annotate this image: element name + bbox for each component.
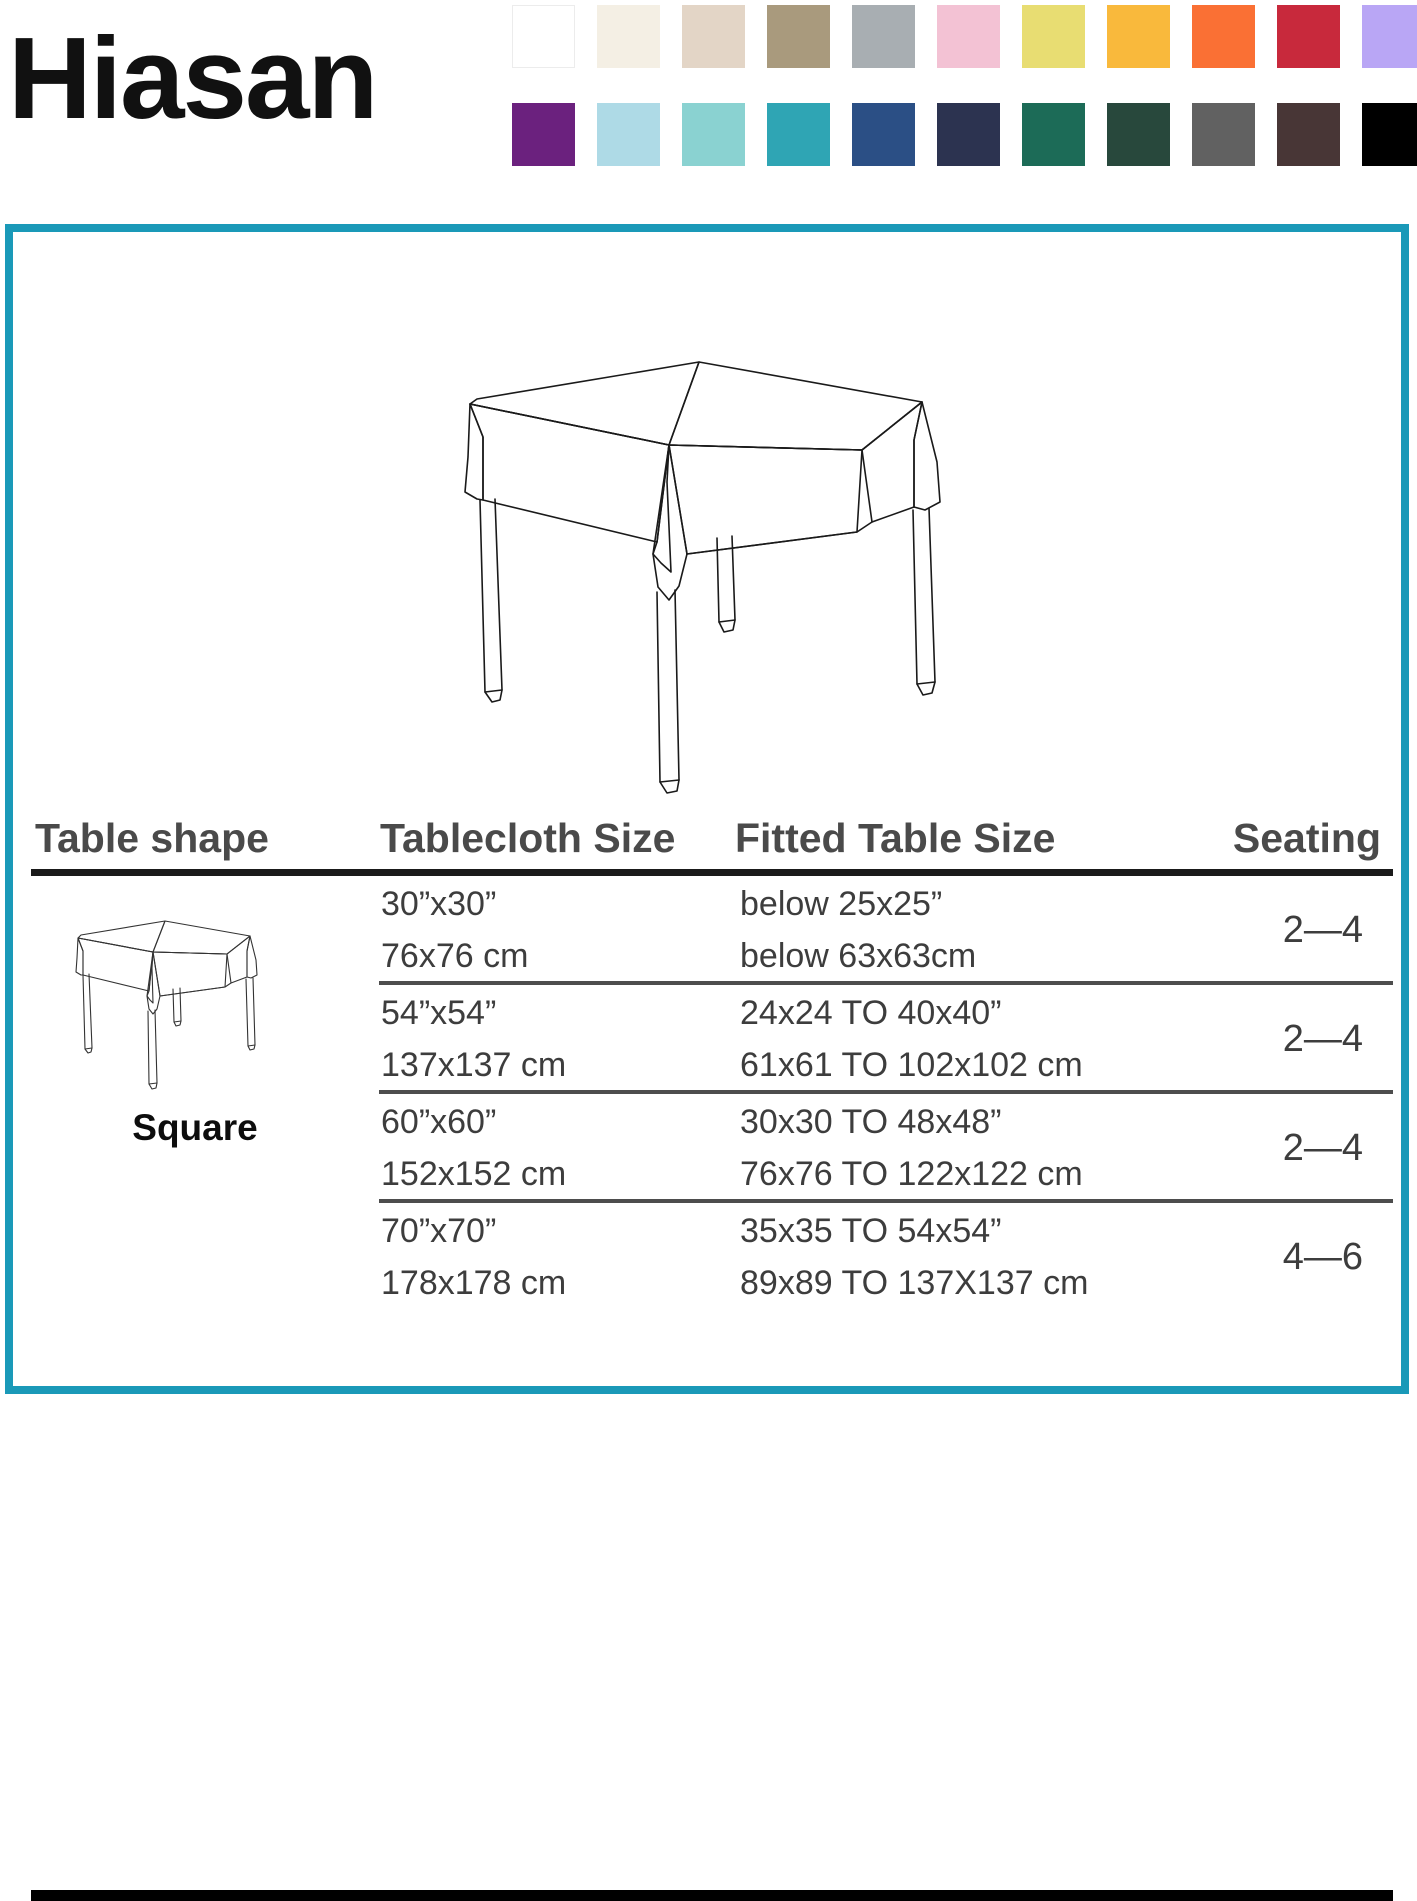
color-swatch-charcoal-grey[interactable] <box>1192 103 1255 166</box>
cell-fitted-table-size: 30x30 TO 48x48” 76x76 TO 122x122 cm <box>740 1096 1083 1200</box>
swatch-row-2 <box>512 103 1410 166</box>
brand-logo: Hiasan <box>8 8 478 148</box>
column-header-tablecloth-size: Tablecloth Size <box>380 807 675 869</box>
color-swatch-orange[interactable] <box>1192 5 1255 68</box>
cell-fitted-table-size: 24x24 TO 40x40” 61x61 TO 102x102 cm <box>740 987 1083 1091</box>
product-info-panel: Table shape Tablecloth Size Fitted Table… <box>5 224 1409 1394</box>
table-bottom-divider <box>31 1890 1393 1901</box>
cloth-size-inches: 30”x30” <box>381 878 528 930</box>
swatch-row-1 <box>512 5 1410 68</box>
fitted-size-inches: below 25x25” <box>740 878 976 930</box>
cloth-size-inches: 60”x60” <box>381 1096 566 1148</box>
table-row: 54”x54” 137x137 cm 24x24 TO 40x40” 61x61… <box>13 985 1401 1094</box>
color-swatch-amber[interactable] <box>1107 5 1170 68</box>
cell-seating: 2—4 <box>1283 985 1363 1094</box>
color-swatch-denim-blue[interactable] <box>852 103 915 166</box>
color-swatch-ivory[interactable] <box>597 5 660 68</box>
color-swatch-teal[interactable] <box>767 103 830 166</box>
column-header-seating: Seating <box>1233 807 1381 869</box>
cloth-size-inches: 70”x70” <box>381 1205 566 1257</box>
table-row: 60”x60” 152x152 cm 30x30 TO 48x48” 76x76… <box>13 1094 1401 1203</box>
color-swatch-grid <box>512 5 1410 165</box>
color-swatch-white[interactable] <box>512 5 575 68</box>
cell-seating: 2—4 <box>1283 1094 1363 1203</box>
color-swatch-forest-green[interactable] <box>1107 103 1170 166</box>
color-swatch-aqua[interactable] <box>682 103 745 166</box>
cloth-size-inches: 54”x54” <box>381 987 566 1039</box>
size-spec-table: Table shape Tablecloth Size Fitted Table… <box>13 807 1401 1367</box>
table-row: 30”x30” 76x76 cm below 25x25” below 63x6… <box>13 876 1401 985</box>
spec-rows: 30”x30” 76x76 cm below 25x25” below 63x6… <box>13 876 1401 1312</box>
color-swatch-lavender[interactable] <box>1362 5 1417 68</box>
color-swatch-crimson-red[interactable] <box>1277 5 1340 68</box>
cell-tablecloth-size: 60”x60” 152x152 cm <box>381 1096 566 1200</box>
fitted-size-inches: 35x35 TO 54x54” <box>740 1205 1088 1257</box>
color-swatch-dark-brown[interactable] <box>1277 103 1340 166</box>
color-swatch-taupe[interactable] <box>767 5 830 68</box>
fitted-size-cm: 76x76 TO 122x122 cm <box>740 1148 1083 1200</box>
column-header-fitted-table-size: Fitted Table Size <box>735 807 1055 869</box>
fitted-size-cm: below 63x63cm <box>740 930 976 982</box>
fitted-size-inches: 24x24 TO 40x40” <box>740 987 1083 1039</box>
color-swatch-emerald[interactable] <box>1022 103 1085 166</box>
color-swatch-blush-pink[interactable] <box>937 5 1000 68</box>
fitted-size-cm: 89x89 TO 137X137 cm <box>740 1257 1088 1309</box>
color-swatch-silver-grey[interactable] <box>852 5 915 68</box>
color-swatch-soft-yellow[interactable] <box>1022 5 1085 68</box>
cloth-size-cm: 178x178 cm <box>381 1257 566 1309</box>
cell-tablecloth-size: 30”x30” 76x76 cm <box>381 878 528 982</box>
fitted-size-cm: 61x61 TO 102x102 cm <box>740 1039 1083 1091</box>
color-swatch-navy[interactable] <box>937 103 1000 166</box>
cloth-size-cm: 152x152 cm <box>381 1148 566 1200</box>
color-swatch-powder-blue[interactable] <box>597 103 660 166</box>
table-row: 70”x70” 178x178 cm 35x35 TO 54x54” 89x89… <box>13 1203 1401 1312</box>
cell-tablecloth-size: 70”x70” 178x178 cm <box>381 1205 566 1309</box>
color-swatch-purple[interactable] <box>512 103 575 166</box>
square-table-with-tablecloth-illustration <box>417 342 987 802</box>
cell-tablecloth-size: 54”x54” 137x137 cm <box>381 987 566 1091</box>
cell-seating: 2—4 <box>1283 876 1363 985</box>
header-divider <box>31 869 1393 876</box>
cloth-size-cm: 137x137 cm <box>381 1039 566 1091</box>
fitted-size-inches: 30x30 TO 48x48” <box>740 1096 1083 1148</box>
cloth-size-cm: 76x76 cm <box>381 930 528 982</box>
table-header-row: Table shape Tablecloth Size Fitted Table… <box>13 807 1401 869</box>
color-swatch-black[interactable] <box>1362 103 1417 166</box>
color-swatch-beige[interactable] <box>682 5 745 68</box>
column-header-table-shape: Table shape <box>35 807 269 869</box>
cell-seating: 4—6 <box>1283 1203 1363 1312</box>
cell-fitted-table-size: 35x35 TO 54x54” 89x89 TO 137X137 cm <box>740 1205 1088 1309</box>
cell-fitted-table-size: below 25x25” below 63x63cm <box>740 878 976 982</box>
